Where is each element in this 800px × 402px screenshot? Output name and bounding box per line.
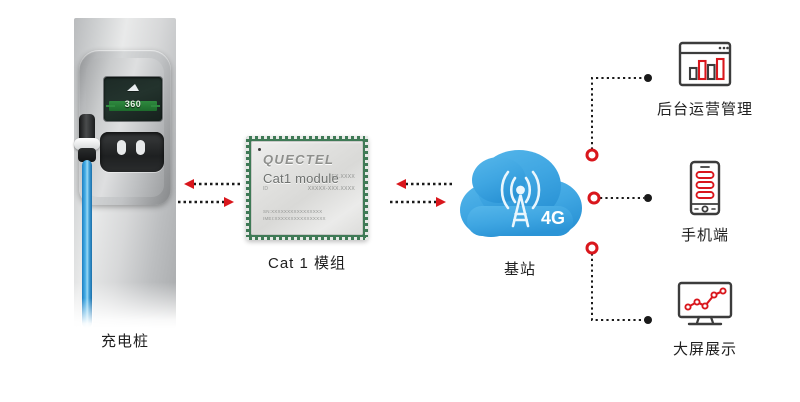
branch-source-ring [587, 150, 597, 160]
endpoint-mobile[interactable]: 手机端 [640, 160, 770, 245]
module-id-value: XXXXX-XXX.XXXX [308, 186, 355, 192]
module-serial-block: SN:XXXXXXXXXXXXXXXX IMEI:XXXXXXXXXXXXXXX… [263, 208, 326, 222]
browser-bar-chart-icon [677, 40, 733, 90]
charging-port-prong-right [136, 140, 145, 155]
arrow-left-top [184, 179, 240, 189]
cloud-shape: 4G [455, 128, 585, 258]
charging-pile-screen: 360 [103, 76, 163, 122]
charging-pile-screen-value: 360 [104, 99, 162, 109]
monitor-line-chart-icon [676, 280, 734, 330]
charging-cable [82, 160, 92, 328]
module-shield-can: QUECTEL Cat1 module EX.XXXX ID XXXXX-XXX… [251, 141, 363, 235]
diagram-canvas: 360 充电桩 [0, 0, 800, 402]
endpoint-backend[interactable]: 后台运营管理 [640, 40, 770, 119]
module-title: Cat1 module [263, 171, 339, 186]
module-brand: QUECTEL [263, 152, 334, 167]
cat1-module-illustration: QUECTEL Cat1 module EX.XXXX ID XXXXX-XXX… [246, 136, 368, 240]
charging-port [100, 132, 164, 172]
charging-pile-head-inner: 360 [86, 58, 164, 197]
base-station-network-label: 4G [541, 208, 565, 228]
charging-port-prong-left [117, 140, 126, 155]
module-code: EX.XXXX [332, 174, 356, 180]
arrow-left-top [396, 179, 452, 189]
base-station-illustration: 4G [455, 128, 585, 258]
module-serial-line-1: SN:XXXXXXXXXXXXXXXX [263, 208, 326, 215]
connector-arrows-pile-to-module [170, 174, 248, 218]
smartphone-icon [685, 160, 725, 216]
cat1-module-label: Cat 1 模组 [240, 252, 374, 273]
base-station-label: 基站 [455, 258, 585, 279]
module-id-label: ID [263, 186, 268, 192]
endpoint-bigscreen-label: 大屏展示 [640, 338, 770, 359]
branch-source-ring [587, 243, 597, 253]
module-serial-line-2: IMEI:XXXXXXXXXXXXXXXX [263, 215, 326, 222]
charging-pile-label: 充电桩 [52, 330, 198, 351]
endpoint-mobile-label: 手机端 [640, 224, 770, 245]
branch-source-ring [589, 193, 599, 203]
module-pin1-dot [258, 148, 261, 151]
endpoint-backend-label: 后台运营管理 [640, 98, 770, 119]
arrow-right-bottom [390, 197, 446, 207]
endpoint-bigscreen[interactable]: 大屏展示 [640, 280, 770, 359]
arrow-right-bottom [178, 197, 234, 207]
connector-arrows-module-to-basestation [382, 174, 460, 218]
car-icon [127, 84, 139, 91]
